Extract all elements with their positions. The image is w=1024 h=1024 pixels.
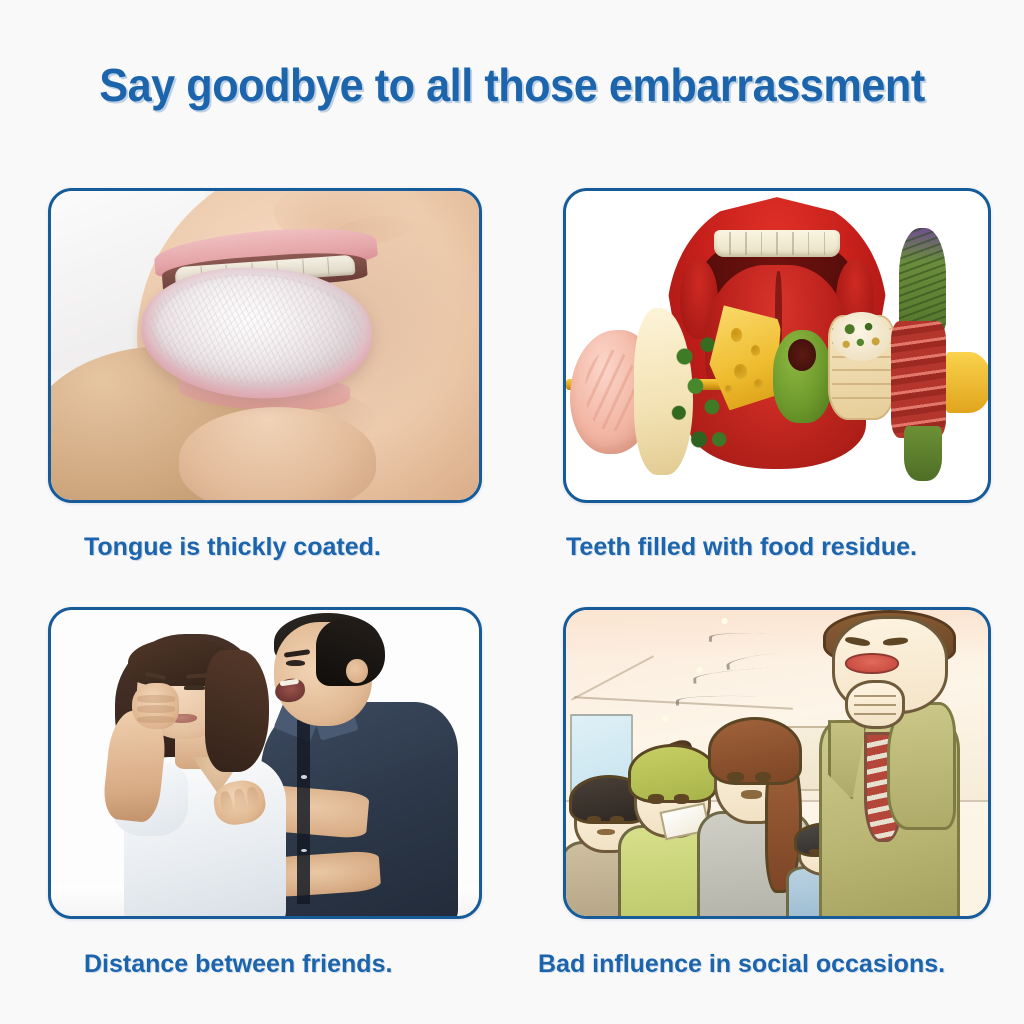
caption-friends: Distance between friends. <box>84 950 392 979</box>
infographic-page: Say goodbye to all those embarrassment <box>0 0 1024 1024</box>
coated-tongue-photo <box>51 191 479 500</box>
card-social <box>563 607 991 919</box>
couple-bad-breath-photo <box>51 610 479 916</box>
mouth-food-skewer-illustration <box>566 191 988 500</box>
card-tongue <box>48 188 482 503</box>
caption-tongue: Tongue is thickly coated. <box>84 533 381 562</box>
caption-social: Bad influence in social occasions. <box>538 950 945 979</box>
office-crowd-cartoon <box>566 610 988 916</box>
card-friends <box>48 607 482 919</box>
crowd-figure <box>714 735 790 916</box>
card-food <box>563 188 991 503</box>
crowd-figure <box>634 760 706 916</box>
caption-food: Teeth filled with food residue. <box>566 533 917 562</box>
page-title: Say goodbye to all those embarrassment <box>31 58 994 112</box>
